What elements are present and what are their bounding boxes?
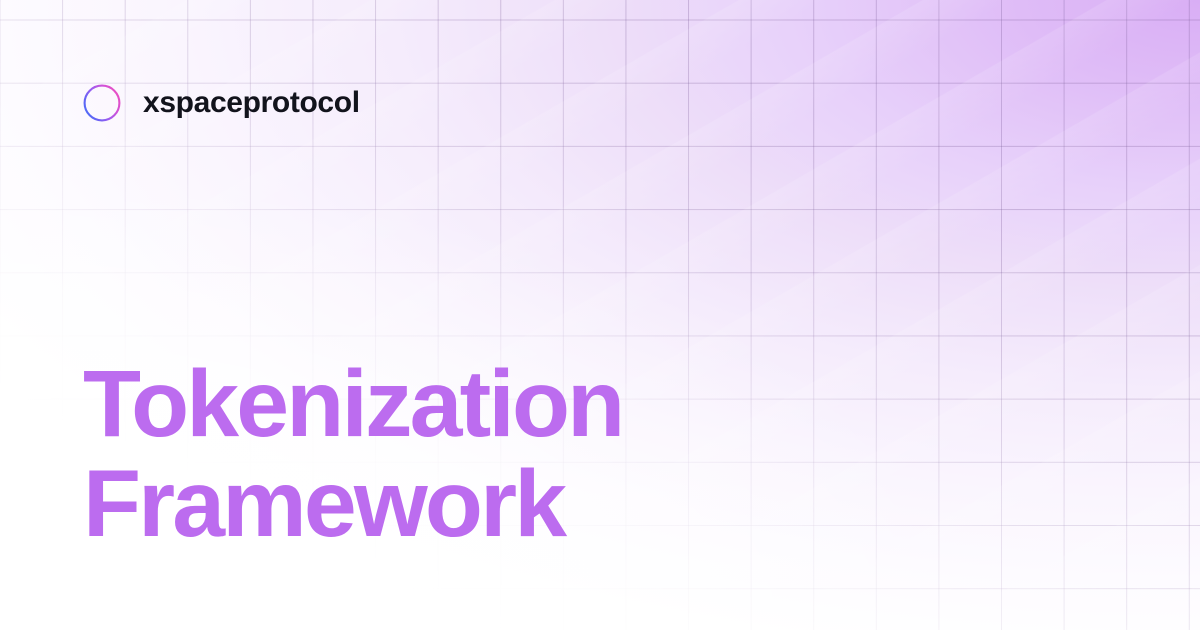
brand-name: xspaceprotocol [143,88,360,118]
og-card: xspaceprotocol Tokenization Framework [0,0,1200,630]
gradient-ring-icon [83,84,121,122]
card-content: xspaceprotocol Tokenization Framework [0,0,1200,630]
page-title: Tokenization Framework [83,354,622,554]
brand-lockup: xspaceprotocol [83,84,360,122]
